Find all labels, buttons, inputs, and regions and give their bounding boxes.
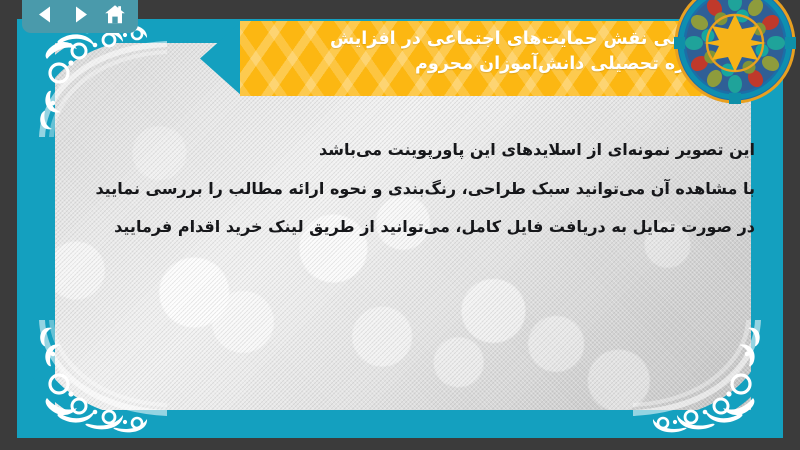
slide-viewer-window: این تصویر نمونه‌ای از اسلایدهای این پاور… bbox=[0, 0, 800, 450]
banner-body: بررسی نقش حمایت‌های اجتماعی در افزایش ان… bbox=[240, 21, 730, 96]
next-slide-button[interactable] bbox=[66, 1, 94, 27]
persian-medallion-ornament-icon bbox=[674, 0, 796, 104]
body-line-3: در صورت تمایل به دریافت فایل کامل، می‌تو… bbox=[77, 208, 755, 247]
banner-arrow-tip bbox=[200, 21, 242, 96]
body-line-1: این تصویر نمونه‌ای از اسلایدهای این پاور… bbox=[77, 131, 755, 170]
triangle-left-icon bbox=[36, 5, 55, 24]
slide-body-text: این تصویر نمونه‌ای از اسلایدهای این پاور… bbox=[77, 131, 755, 247]
previous-slide-button[interactable] bbox=[31, 1, 59, 27]
page-title: بررسی نقش حمایت‌های اجتماعی در افزایش ان… bbox=[240, 21, 730, 77]
slide-title-banner: بررسی نقش حمایت‌های اجتماعی در افزایش ان… bbox=[200, 21, 730, 96]
home-icon bbox=[104, 4, 126, 25]
slide-navigation-toolbar bbox=[22, 0, 138, 33]
triangle-right-icon bbox=[71, 5, 90, 24]
home-button[interactable] bbox=[101, 1, 129, 27]
body-line-2: با مشاهده آن می‌توانید سبک طراحی، رنگ‌بن… bbox=[77, 170, 755, 209]
